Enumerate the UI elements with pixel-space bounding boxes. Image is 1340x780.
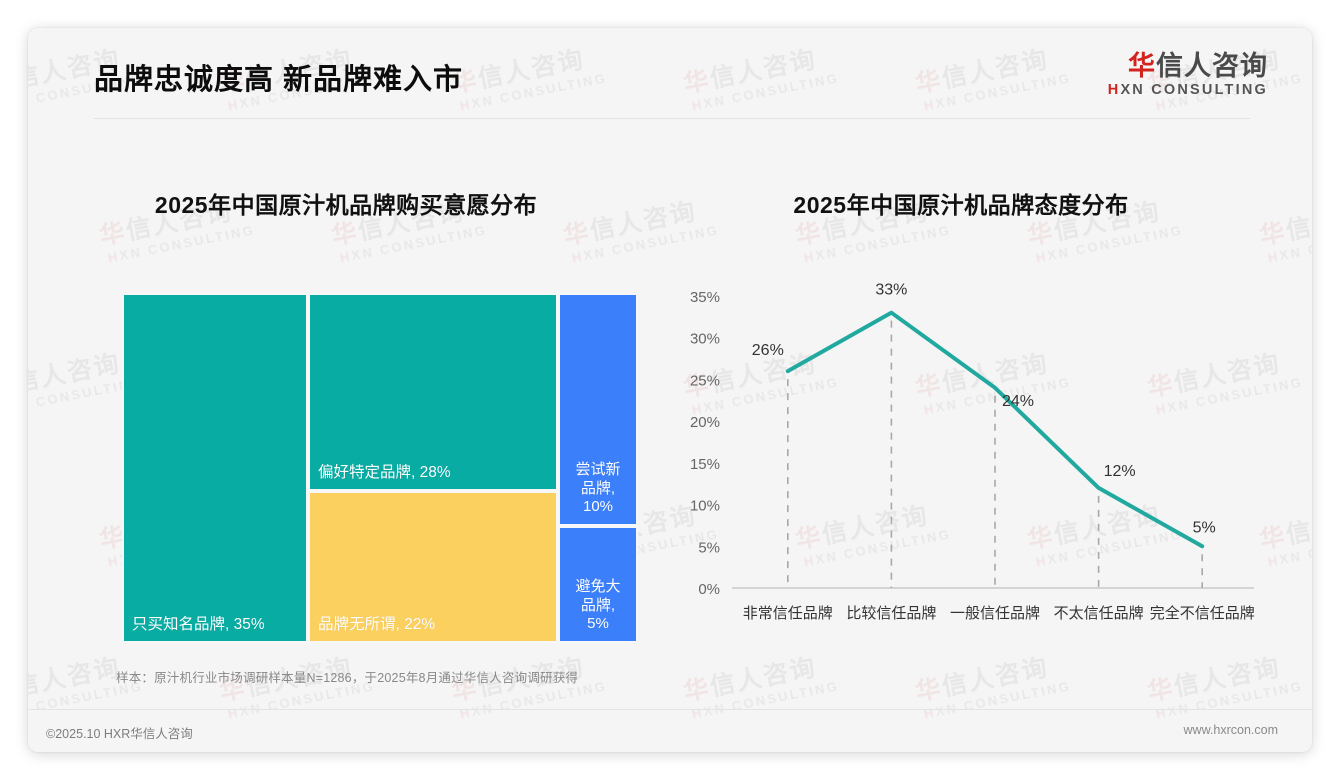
y-axis-tick-label: 30%	[690, 331, 720, 348]
y-axis-tick-label: 0%	[698, 581, 720, 598]
charts-area: 2025年中国原汁机品牌购买意愿分布 只买知名品牌, 35%偏好特定品牌, 28…	[28, 128, 1312, 668]
logo-english-accent: H	[1108, 82, 1121, 98]
logo-english-rest: XN CONSULTING	[1120, 82, 1268, 98]
slide-card: 华信人咨询HXN CONSULTING华信人咨询HXN CONSULTING华信…	[28, 28, 1312, 752]
logo-english: HXN CONSULTING	[1108, 82, 1268, 98]
data-point-label: 5%	[1193, 519, 1216, 536]
treemap-column-c: 尝试新品牌,10%避免大品牌,5%	[558, 293, 638, 643]
treemap-title: 2025年中国原汁机品牌购买意愿分布	[66, 186, 626, 220]
data-point-label: 24%	[1002, 393, 1034, 410]
data-point-label: 33%	[875, 282, 907, 299]
slide-header: 品牌忠诚度高 新品牌难入市 华信人咨询 HXN CONSULTING	[28, 28, 1312, 118]
treemap-cell[interactable]: 品牌无所谓, 22%	[308, 491, 558, 643]
slide-footer: ©2025.10 HXR华信人咨询 www.hxrcon.com	[28, 710, 1312, 752]
treemap-cell-label: 只买知名品牌, 35%	[132, 616, 300, 634]
x-axis-tick-label: 不太信任品牌	[1054, 605, 1144, 622]
treemap-cell[interactable]: 尝试新品牌,10%	[558, 293, 638, 526]
treemap-cell[interactable]: 避免大品牌,5%	[558, 526, 638, 643]
x-axis-tick-label: 非常信任品牌	[743, 605, 833, 622]
x-axis-tick-label: 比较信任品牌	[846, 604, 936, 622]
data-point-label: 26%	[752, 342, 784, 359]
y-axis-tick-label: 20%	[690, 414, 720, 431]
footer-website: www.hxrcon.com	[1184, 723, 1278, 737]
y-axis-tick-label: 25%	[690, 372, 720, 389]
linechart-title: 2025年中国原汁机品牌态度分布	[648, 186, 1274, 220]
line-chart-svg: 0%5%10%15%20%25%30%35%26%33%24%12%5%非常信任…	[658, 278, 1268, 658]
logo-chinese-accent: 华	[1128, 51, 1156, 81]
treemap-cell-label: 偏好特定品牌, 28%	[318, 464, 550, 482]
y-axis-tick-label: 5%	[698, 539, 720, 556]
brand-logo: 华信人咨询 HXN CONSULTING	[1108, 52, 1268, 98]
footer-copyright: ©2025.10 HXR华信人咨询	[46, 723, 193, 742]
y-axis-tick-label: 15%	[690, 456, 720, 473]
treemap-column-b: 偏好特定品牌, 28%品牌无所谓, 22%	[308, 293, 558, 643]
treemap-cell-label: 避免大品牌,5%	[564, 578, 632, 634]
logo-chinese: 华信人咨询	[1108, 52, 1268, 80]
treemap-cell-label: 品牌无所谓, 22%	[318, 616, 550, 634]
y-axis-tick-label: 10%	[690, 498, 720, 515]
x-axis-tick-label: 一般信任品牌	[950, 605, 1040, 622]
data-point-label: 12%	[1104, 463, 1136, 480]
treemap-cell-label: 尝试新品牌,10%	[564, 461, 632, 517]
logo-chinese-rest: 信人咨询	[1156, 51, 1268, 81]
title-divider	[94, 118, 1250, 119]
page-title: 品牌忠诚度高 新品牌难入市	[94, 56, 463, 98]
treemap-column-a: 只买知名品牌, 35%	[122, 293, 308, 643]
source-note: 样本：原汁机行业市场调研样本量N=1286，于2025年8月通过华信人咨询调研获…	[116, 667, 578, 686]
y-axis-tick-label: 35%	[690, 289, 720, 306]
treemap-cell[interactable]: 只买知名品牌, 35%	[122, 293, 308, 643]
treemap-panel: 2025年中国原汁机品牌购买意愿分布 只买知名品牌, 35%偏好特定品牌, 28…	[66, 128, 626, 668]
treemap-chart: 只买知名品牌, 35%偏好特定品牌, 28%品牌无所谓, 22%尝试新品牌,10…	[122, 293, 638, 643]
line-chart: 0%5%10%15%20%25%30%35%26%33%24%12%5%非常信任…	[658, 278, 1268, 658]
x-axis-tick-label: 完全不信任品牌	[1150, 604, 1255, 622]
linechart-panel: 2025年中国原汁机品牌态度分布 0%5%10%15%20%25%30%35%2…	[648, 128, 1274, 668]
treemap-cell[interactable]: 偏好特定品牌, 28%	[308, 293, 558, 491]
